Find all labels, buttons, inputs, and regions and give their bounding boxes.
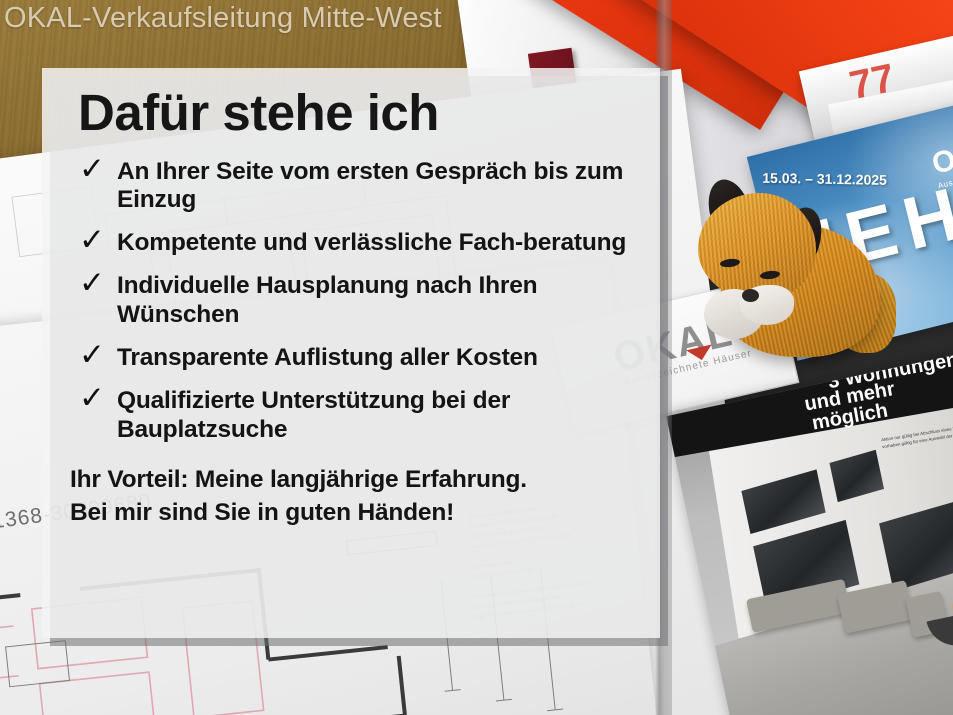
content-panel: Dafür stehe ich ✓ An Ihrer Seite vom ers… <box>42 68 660 638</box>
check-icon: ✓ <box>79 154 105 185</box>
check-icon: ✓ <box>79 268 105 299</box>
closing-line-1: Ihr Vorteil: Meine langjährige Erfahrung… <box>70 463 638 496</box>
panel-headline: Dafür stehe ich <box>78 86 638 140</box>
fox-eye-left <box>720 258 741 268</box>
brochure-red-mark: 77 <box>846 56 899 109</box>
slide-root: 77 15.03. – 31.12.2025 MEHR OKAL Ausgeze… <box>0 0 953 715</box>
closing-statement: Ihr Vorteil: Meine langjährige Erfahrung… <box>70 463 638 530</box>
benefits-list: ✓ An Ihrer Seite vom ersten Gespräch bis… <box>70 158 638 445</box>
list-item: ✓ Qualifizierte Unterstützung bei der Ba… <box>70 387 638 445</box>
list-item-label: An Ihrer Seite vom ersten Gespräch bis z… <box>117 158 623 214</box>
fox-plush-toy <box>690 155 890 360</box>
closing-line-2: Bei mir sind Sie in guten Händen! <box>70 496 638 529</box>
fox-eye-right <box>760 270 781 280</box>
list-item: ✓ Kompetente und verlässliche Fach-berat… <box>70 229 638 258</box>
check-icon: ✓ <box>79 225 105 256</box>
check-icon: ✓ <box>79 340 105 371</box>
list-item: ✓ An Ihrer Seite vom ersten Gespräch bis… <box>70 158 638 216</box>
check-icon: ✓ <box>79 383 105 414</box>
list-item-label: Qualifizierte Unterstützung bei der Baup… <box>117 387 510 443</box>
fox-head <box>698 193 816 301</box>
list-item-label: Kompetente und verlässliche Fach-beratun… <box>117 229 626 256</box>
list-item-label: Transparente Auflistung aller Kosten <box>117 344 538 371</box>
brochure-brand-name: OKAL <box>929 126 953 182</box>
fox-nose <box>742 289 759 302</box>
list-item: ✓ Transparente Auflistung aller Kosten <box>70 344 638 373</box>
list-item: ✓ Individuelle Hausplanung nach Ihren Wü… <box>70 272 638 330</box>
page-title: OKAL-Verkaufsleitung Mitte-West <box>4 2 442 35</box>
list-item-label: Individuelle Hausplanung nach Ihren Wüns… <box>117 272 537 328</box>
